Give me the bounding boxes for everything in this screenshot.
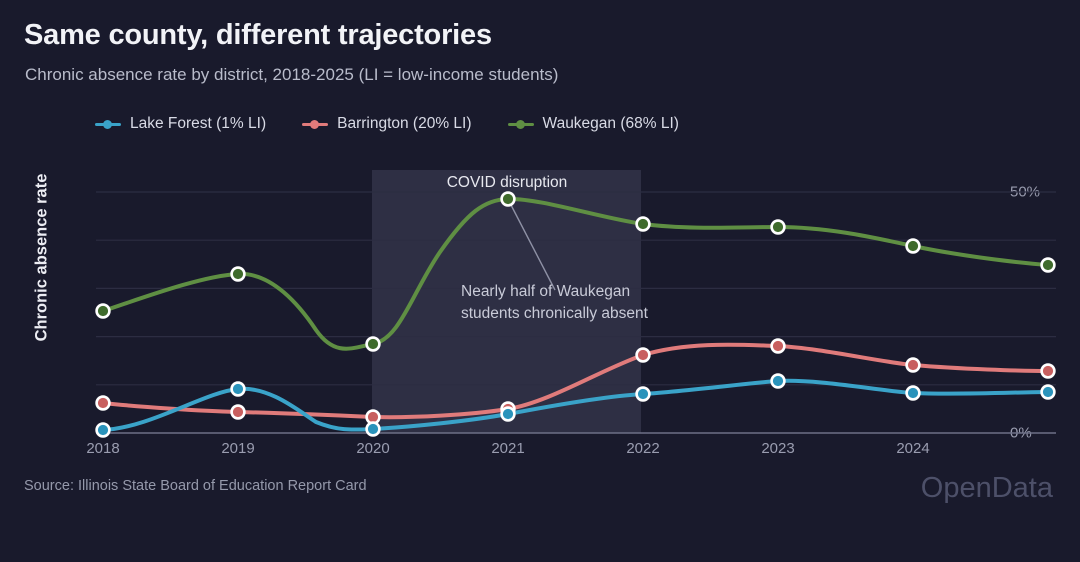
- watermark-logo: OpenData: [921, 472, 1053, 505]
- source-text: Source: Illinois State Board of Educatio…: [24, 478, 367, 494]
- covid-band-label: COVID disruption: [447, 174, 568, 192]
- callout-line-2: students chronically absent: [461, 303, 648, 325]
- chart-root: Same county, different trajectories Chro…: [0, 0, 1080, 562]
- waukegan-peak-callout: Nearly half of Waukegan students chronic…: [461, 281, 648, 326]
- callout-line-1: Nearly half of Waukegan: [461, 281, 648, 303]
